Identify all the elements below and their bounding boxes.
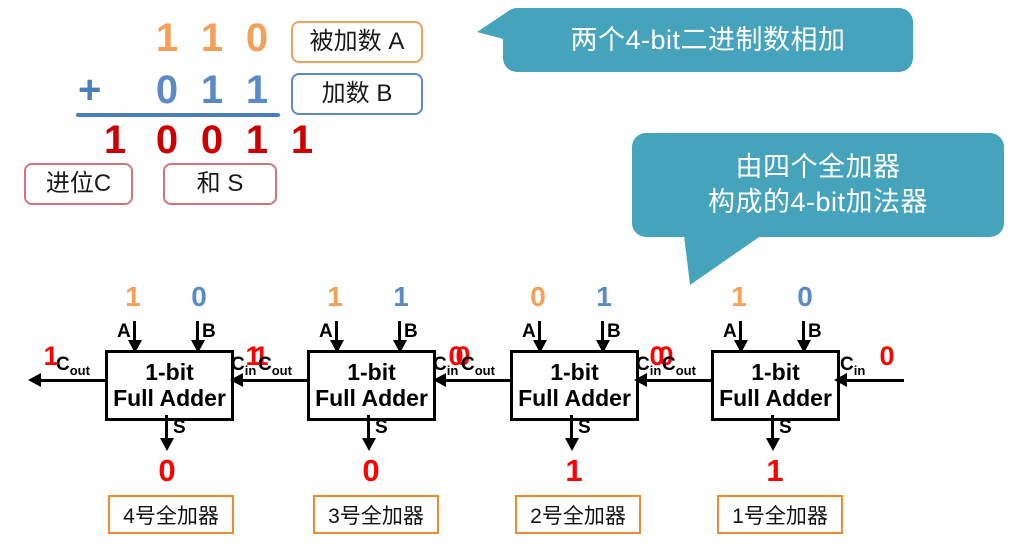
adder1-sum-value: 1 bbox=[758, 455, 792, 486]
adder3-b-value: 1 bbox=[386, 283, 416, 311]
adder3-sum-value: 0 bbox=[354, 455, 388, 486]
adder1-cout-arrow-icon bbox=[634, 373, 647, 387]
adder3-box: 1-bit Full Adder bbox=[307, 350, 436, 421]
adder2-cout-value: 0 bbox=[447, 343, 465, 370]
adder1-a-pin: A bbox=[723, 322, 737, 341]
sum-rule-line bbox=[76, 113, 280, 117]
adder3-s-arrow-icon bbox=[362, 438, 376, 451]
adder1-cout-pin: Cout bbox=[662, 355, 696, 377]
adder3-cout-arrow-icon bbox=[230, 373, 243, 387]
adder1-cout-wire bbox=[644, 379, 713, 382]
adder4-title-line2: Full Adder bbox=[113, 386, 226, 412]
adder1-title-line2: Full Adder bbox=[719, 386, 832, 412]
adder1-s-arrow-icon bbox=[766, 438, 780, 451]
adder4-cout-arrow-icon bbox=[28, 373, 41, 387]
adder2-box: 1-bit Full Adder bbox=[510, 350, 639, 421]
sum-digit: 0 bbox=[195, 120, 229, 160]
adder3-cout-value: 1 bbox=[244, 343, 262, 370]
sum-digit: 0 bbox=[150, 120, 184, 160]
adder3-s-pin: S bbox=[375, 418, 388, 437]
adder3-title-line1: 1-bit bbox=[347, 360, 396, 386]
callout-top: 两个4-bit二进制数相加 bbox=[503, 8, 913, 72]
sum-digits-row: 0 0 1 1 bbox=[150, 120, 319, 160]
adder1-cout-value: 0 bbox=[648, 343, 666, 370]
adder2-title-line1: 1-bit bbox=[550, 360, 599, 386]
adder3-name-tag: 3号全加器 bbox=[313, 495, 439, 534]
adder2-a-pin: A bbox=[522, 322, 536, 341]
adder1-a-value: 1 bbox=[724, 283, 754, 311]
adder3-a-value: 1 bbox=[320, 283, 350, 311]
adder2-a-value: 0 bbox=[523, 283, 553, 311]
adder4-name-tag: 4号全加器 bbox=[108, 495, 234, 534]
adder2-b-value: 1 bbox=[589, 283, 619, 311]
adder1-cin-value: 0 bbox=[878, 343, 896, 370]
adder1-s-pin: S bbox=[779, 418, 792, 437]
operand-b-digit: 1 bbox=[240, 70, 274, 110]
adder1-b-pin: B bbox=[808, 322, 822, 341]
adder2-title-line2: Full Adder bbox=[518, 386, 631, 412]
adder4-b-value: 0 bbox=[184, 283, 214, 311]
adder1-cin-arrow-icon bbox=[834, 373, 847, 387]
operand-b-digit: 1 bbox=[195, 70, 229, 110]
adder4-title-line1: 1-bit bbox=[145, 360, 194, 386]
adder2-cout-pin: Cout bbox=[461, 355, 495, 377]
adder3-a-pin: A bbox=[319, 322, 333, 341]
adder2-name-tag: 2号全加器 bbox=[515, 495, 641, 534]
adder3-cout-pin: Cout bbox=[258, 355, 292, 377]
adder4-s-pin: S bbox=[173, 418, 186, 437]
adder1-cin-wire bbox=[846, 379, 904, 382]
operand-a-digit: 1 bbox=[195, 18, 229, 58]
adder3-b-pin: B bbox=[404, 322, 418, 341]
sum-digit: 1 bbox=[285, 120, 319, 160]
operand-a-digit: 0 bbox=[240, 18, 274, 58]
adder4-cout-value: 1 bbox=[42, 343, 60, 370]
label-operand-a: 被加数 A bbox=[291, 21, 423, 63]
adder4-s-arrow-icon bbox=[160, 438, 174, 451]
plus-sign: + bbox=[78, 70, 101, 110]
adder2-s-arrow-icon bbox=[565, 438, 579, 451]
adder1-title-line1: 1-bit bbox=[751, 360, 800, 386]
callout-bottom: 由四个全加器 构成的4-bit加法器 bbox=[632, 133, 1004, 237]
label-carry-c: 进位C bbox=[24, 163, 133, 205]
adder4-a-value: 1 bbox=[118, 283, 148, 311]
adder4-b-pin: B bbox=[202, 322, 216, 341]
adder2-cout-wire bbox=[443, 379, 512, 382]
adder4-box: 1-bit Full Adder bbox=[105, 350, 234, 421]
adder4-cout-pin: Cout bbox=[56, 355, 90, 377]
operand-a-digit: 1 bbox=[150, 18, 184, 58]
operand-b-digit: 0 bbox=[150, 70, 184, 110]
label-sum-s: 和 S bbox=[163, 163, 277, 205]
adder2-sum-value: 1 bbox=[557, 455, 591, 486]
adder1-b-value: 0 bbox=[790, 283, 820, 311]
adder1-box: 1-bit Full Adder bbox=[711, 350, 840, 421]
adder1-name-tag: 1号全加器 bbox=[717, 495, 843, 534]
callout-bottom-line1: 由四个全加器 bbox=[736, 150, 901, 185]
callout-top-tail-icon bbox=[477, 10, 513, 46]
carry-out-digit: 1 bbox=[98, 120, 132, 160]
adder2-s-pin: S bbox=[578, 418, 591, 437]
adder2-cout-arrow-icon bbox=[433, 373, 446, 387]
adder2-b-pin: B bbox=[607, 322, 621, 341]
adder4-sum-value: 0 bbox=[150, 455, 184, 486]
sum-digit: 1 bbox=[240, 120, 274, 160]
label-operand-b: 加数 B bbox=[291, 73, 423, 115]
adder3-cout-wire bbox=[240, 379, 309, 382]
callout-bottom-text: 由四个全加器 构成的4-bit加法器 bbox=[632, 133, 1004, 237]
callout-bottom-line2: 构成的4-bit加法器 bbox=[708, 185, 928, 220]
callout-top-text: 两个4-bit二进制数相加 bbox=[503, 8, 913, 72]
adder3-title-line2: Full Adder bbox=[315, 386, 428, 412]
adder4-cout-wire bbox=[38, 379, 107, 382]
adder4-a-pin: A bbox=[117, 322, 131, 341]
